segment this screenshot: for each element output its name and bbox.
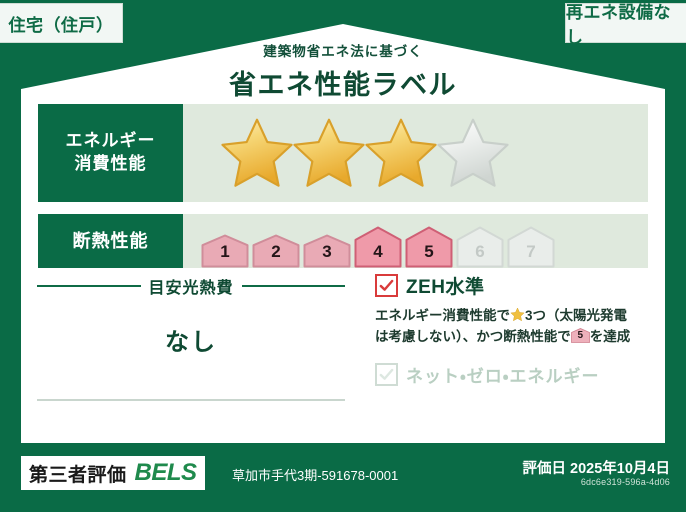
insulation-level-number: 2 — [252, 242, 300, 262]
insulation-level-4: 4 — [354, 226, 402, 268]
insulation-level-number: 3 — [303, 242, 351, 262]
badge-building-type: 住宅（住戸） — [0, 3, 123, 43]
star-filled-icon — [362, 116, 440, 190]
bels-certification-mark: 第三者評価 BELS — [21, 456, 205, 490]
energy-label-line2: 消費性能 — [75, 153, 147, 176]
star-filled-icon — [290, 116, 368, 190]
heading-rule-right — [242, 285, 346, 287]
insulation-level-3: 3 — [303, 234, 351, 268]
star-filled-icon — [218, 116, 296, 190]
energy-label-line1: エネルギー — [66, 130, 156, 153]
bels-japanese-text: 第三者評価 — [29, 460, 127, 487]
page-title: 省エネ性能ラベル — [21, 63, 665, 102]
utility-cost-column: 目安光熱費 なし — [21, 274, 361, 443]
energy-performance-label: エネルギー 消費性能 — [38, 104, 183, 202]
insulation-level-number: 1 — [201, 242, 249, 262]
zeh-column: ZEH水準 エネルギー消費性能で 3つ（太陽光発電 は考慮しない）、かつ断熱性能… — [361, 274, 665, 443]
insulation-level-number: 7 — [507, 242, 555, 262]
insulation-level-5: 5 — [405, 226, 453, 268]
badge-renewable-energy: 再エネ設備なし — [565, 3, 686, 43]
insulation-level-number: 6 — [456, 242, 504, 262]
insulation-performance-body: 1234567 — [183, 214, 648, 268]
zeh-desc-part4: を達成 — [590, 329, 631, 344]
insulation-level-scale: 1234567 — [201, 214, 558, 268]
lower-section: 目安光熱費 なし ZEH水準 エネルギー消費性能で — [21, 274, 665, 443]
insulation-label-text: 断熱性能 — [73, 229, 149, 253]
star-rating — [218, 116, 506, 190]
inline-star-icon — [510, 307, 525, 322]
zeh-standard-row: ZEH水準 — [375, 272, 665, 299]
bels-energy-label: 住宅（住戸） 再エネ設備なし 建築物省エネ法に基づく 省エネ性能ラベル エネルギ… — [0, 0, 686, 512]
insulation-level-number: 4 — [354, 242, 402, 262]
bels-property-id: 草加市手代3期-591678-0001 — [232, 465, 398, 484]
zeh-checkbox-checked — [375, 274, 398, 297]
energy-performance-body — [183, 104, 648, 202]
inline-house-level-number: 5 — [571, 329, 590, 343]
zeh-desc-part2: 3つ（太陽光発電 — [525, 308, 627, 323]
utility-cost-divider — [37, 399, 345, 401]
net-zero-energy-title: ネット・ゼロ・エネルギー — [406, 362, 600, 387]
evaluation-hash: 6dc6e319-596a-4d06 — [581, 477, 670, 487]
utility-cost-heading: 目安光熱費 — [37, 274, 345, 298]
net-zero-energy-row: ネット・ゼロ・エネルギー — [375, 362, 665, 387]
heading-rule-left — [37, 285, 141, 287]
insulation-level-2: 2 — [252, 234, 300, 268]
star-empty-icon — [434, 116, 512, 190]
utility-cost-value: なし — [21, 322, 361, 357]
utility-cost-heading-text: 目安光熱費 — [141, 274, 242, 298]
insulation-level-7: 7 — [507, 226, 555, 268]
zeh-desc-part3: は考慮しない）、かつ断熱性能で — [375, 329, 571, 344]
bels-logo-text: BELS — [135, 459, 197, 487]
energy-performance-row: エネルギー 消費性能 — [38, 104, 648, 202]
label-house-card: 建築物省エネ法に基づく 省エネ性能ラベル エネルギー 消費性能 断熱性能 — [21, 24, 665, 443]
insulation-performance-row: 断熱性能 1234567 — [38, 214, 648, 268]
insulation-level-1: 1 — [201, 234, 249, 268]
insulation-level-number: 5 — [405, 242, 453, 262]
net-zero-energy-checkbox-unchecked — [375, 363, 398, 386]
evaluation-date: 評価日 2025年10月4日 — [523, 457, 670, 478]
label-footer: 第三者評価 BELS 草加市手代3期-591678-0001 評価日 2025年… — [0, 443, 686, 512]
zeh-desc-part1: エネルギー消費性能で — [375, 308, 510, 323]
inline-house-level-icon: 5 — [571, 328, 590, 343]
title-block: 建築物省エネ法に基づく 省エネ性能ラベル — [21, 40, 665, 102]
insulation-level-6: 6 — [456, 226, 504, 268]
zeh-description: エネルギー消費性能で 3つ（太陽光発電 は考慮しない）、かつ断熱性能で 5 を達… — [375, 306, 641, 348]
zeh-title: ZEH水準 — [406, 272, 485, 299]
insulation-performance-label: 断熱性能 — [38, 214, 183, 268]
